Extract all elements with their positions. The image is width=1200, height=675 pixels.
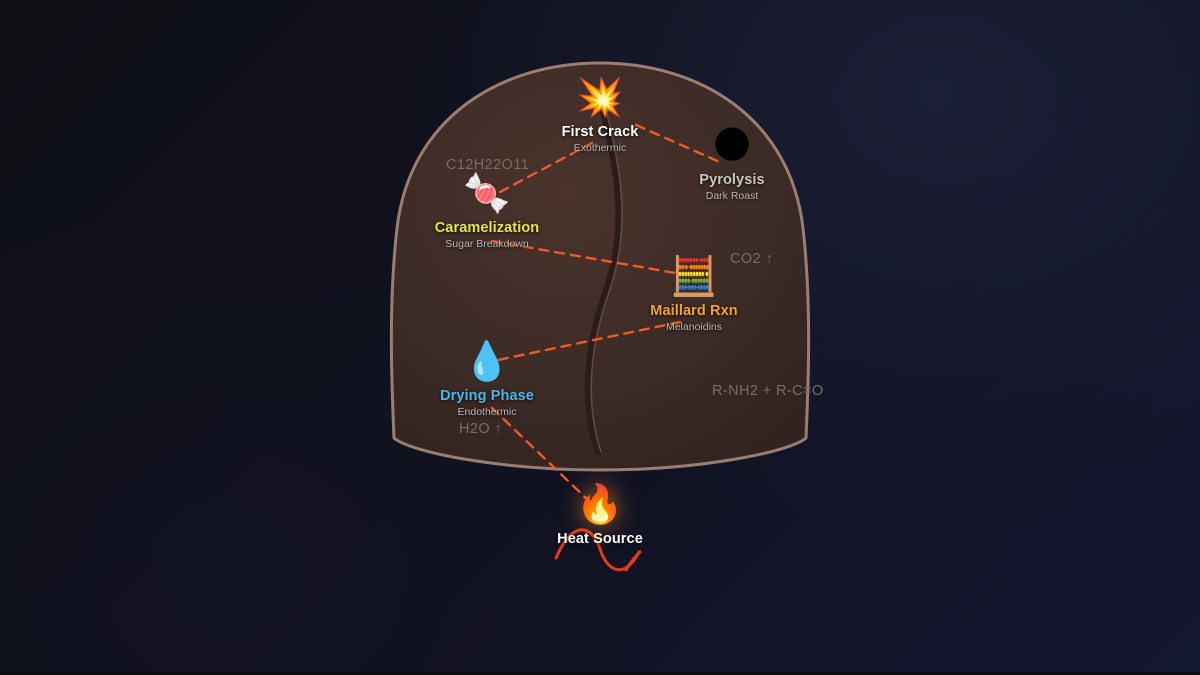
formula-water: H2O ↑ — [459, 421, 502, 437]
node-maillard-rxn[interactable]: 🧮 Maillard Rxn Melanoidins — [564, 257, 824, 333]
explosion-icon: 💥 — [470, 78, 730, 122]
flame-icon: 🔥 — [470, 485, 730, 529]
node-sublabel-caramelization: Sugar Breakdown — [357, 238, 617, 250]
node-sublabel-maillard-rxn: Melanoidins — [564, 321, 824, 333]
node-heat-source[interactable]: 🔥 Heat Source — [470, 485, 730, 547]
node-label-drying-phase: Drying Phase — [357, 388, 617, 404]
candy-icon: 🍬 — [357, 174, 617, 218]
node-label-caramelization: Caramelization — [357, 220, 617, 236]
node-sublabel-drying-phase: Endothermic — [357, 406, 617, 418]
footer-bar: Vectree Coffee Roasting Chemistry vectre… — [0, 557, 1200, 675]
node-caramelization[interactable]: 🍬 Caramelization Sugar Breakdown — [357, 174, 617, 250]
node-drying-phase[interactable]: 💧 Drying Phase Endothermic — [357, 342, 617, 418]
formula-amine: R-NH2 + R-C=O — [712, 383, 824, 399]
droplet-icon: 💧 — [357, 342, 617, 386]
node-label-maillard-rxn: Maillard Rxn — [564, 303, 824, 319]
node-pyrolysis[interactable]: 🌑 Pyrolysis Dark Roast — [602, 126, 862, 202]
abacus-icon: 🧮 — [564, 257, 824, 301]
node-label-pyrolysis: Pyrolysis — [602, 172, 862, 188]
node-label-heat-source: Heat Source — [470, 531, 730, 547]
globe-dark-icon: 🌑 — [602, 126, 862, 170]
node-sublabel-pyrolysis: Dark Roast — [602, 190, 862, 202]
